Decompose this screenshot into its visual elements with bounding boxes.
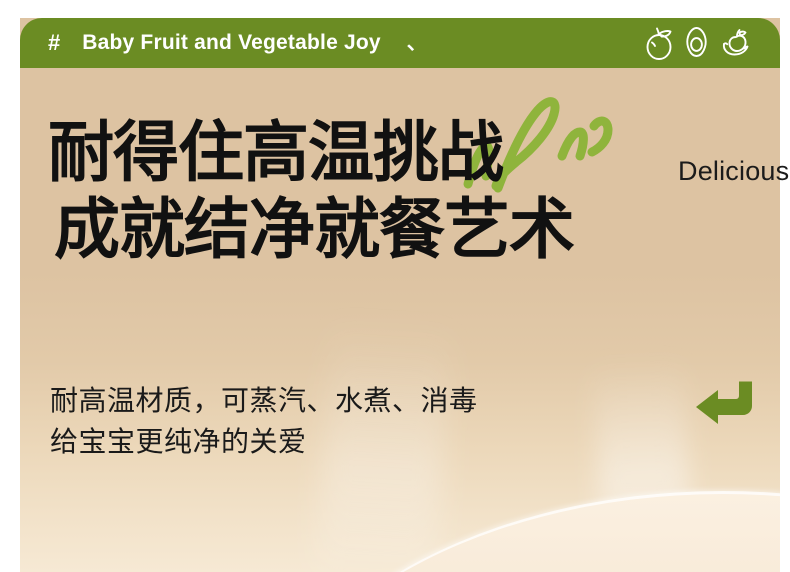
- header-title: Baby Fruit and Vegetable Joy: [82, 31, 381, 55]
- hero-headline-block: 耐得住高温挑战 成就结净就餐艺术 Delicious: [48, 118, 768, 263]
- delicious-label: Delicious: [678, 156, 789, 187]
- return-arrow-icon: [692, 378, 758, 426]
- body-line-2: 给宝宝更纯净的关爱: [50, 421, 710, 462]
- hash-icon: #: [48, 32, 60, 54]
- promo-banner: # Baby Fruit and Vegetable Joy 、: [0, 0, 790, 572]
- apple-banana-icon: [716, 25, 756, 61]
- orange-fruit-icon: [643, 25, 677, 61]
- avocado-icon: [683, 25, 710, 61]
- bowl-rim-shape: [248, 492, 780, 572]
- background-card: [20, 18, 780, 572]
- bowl-rim-highlight: [248, 491, 780, 572]
- body-copy-block: 耐高温材质，可蒸汽、水煮、消毒 给宝宝更纯净的关爱: [50, 380, 710, 463]
- header-icon-group: [643, 25, 756, 61]
- body-line-1: 耐高温材质，可蒸汽、水煮、消毒: [50, 380, 710, 421]
- headline-line-2: 成就结净就餐艺术: [54, 195, 768, 264]
- headline-line-1: 耐得住高温挑战: [48, 118, 768, 187]
- header-punctuation: 、: [407, 33, 427, 53]
- header-bar: # Baby Fruit and Vegetable Joy 、: [20, 18, 780, 68]
